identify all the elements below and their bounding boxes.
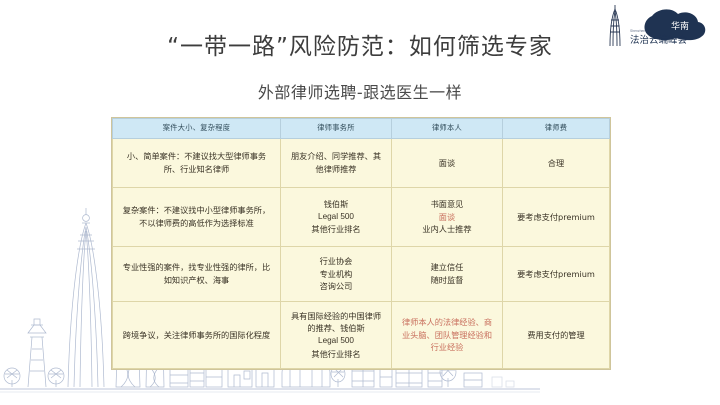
cell-law-firm: 具有国际经验的中国律师的推荐、钱伯斯 Legal 500 其他行业排名 [281,302,392,369]
cell-line: 具有国际经验的中国律师的推荐、钱伯斯 [287,310,385,335]
table-header-row: 案件大小、复杂程度 律师事务所 律师本人 律师费 [113,119,610,139]
cell-case-size: 复杂案件：不建议找中小型律师事务所，不以律师费的高低作为选择标准 [113,188,281,247]
cell-lawyer: 面谈 [392,139,503,188]
cell-lawyer: 建立信任 随时监督 [392,247,503,302]
cell-law-firm: 钱伯斯 Legal 500 其他行业排名 [281,188,392,247]
cell-line: 其他行业排名 [287,223,385,236]
cell-lawyer: 书面意见 面谈 业内人士推荐 [392,188,503,247]
cell-line: 咨询公司 [287,280,385,293]
cell-case-size: 跨境争议，关注律师事务所的国际化程度 [113,302,281,369]
cell-law-firm: 行业协会 专业机构 咨询公司 [281,247,392,302]
cell-line: 业内人士推荐 [398,223,496,236]
cell-line: 书面意见 [398,198,496,211]
cell-line: 其他行业排名 [287,348,385,361]
column-header-lawyer: 律师本人 [392,119,503,139]
column-header-law-firm: 律师事务所 [281,119,392,139]
cell-fee: 要考虑支付premium [503,247,610,302]
column-header-case-size: 案件大小、复杂程度 [113,119,281,139]
cell-fee: 要考虑支付premium [503,188,610,247]
column-header-fee: 律师费 [503,119,610,139]
cell-case-size: 专业性强的案件，找专业性强的律所，比如知识产权、海事 [113,247,281,302]
table-row: 复杂案件：不建议找中小型律师事务所，不以律师费的高低作为选择标准 钱伯斯 Leg… [113,188,610,247]
cell-line: 建立信任 [398,261,496,274]
table-row: 小、简单案件：不建议找大型律师事务所、行业知名律师 朋友介绍、同学推荐、其他律师… [113,139,610,188]
cell-line-highlighted: 面谈 [398,211,496,224]
selection-matrix-table: 案件大小、复杂程度 律师事务所 律师本人 律师费 小、简单案件：不建议找大型律师… [112,118,610,369]
cell-case-size: 小、简单案件：不建议找大型律师事务所、行业知名律师 [113,139,281,188]
cell-line: 行业协会 [287,255,385,268]
page-title: “一带一路”风险防范：如何筛选专家 [0,27,720,61]
cell-fee: 费用支付的管理 [503,302,610,369]
table-row: 跨境争议，关注律师事务所的国际化程度 具有国际经验的中国律师的推荐、钱伯斯 Le… [113,302,610,369]
cell-law-firm: 朋友介绍、同学推荐、其他律师推荐 [281,139,392,188]
page-subtitle: 外部律师选聘-跟选医生一样 [0,79,720,103]
cell-line: 专业机构 [287,268,385,281]
cell-line: 随时监督 [398,274,496,287]
cell-line: Legal 500 [287,211,385,224]
cell-lawyer: 律师本人的法律经验、商业头脑、团队管理经验和行业经验 [392,302,503,369]
cell-line: 钱伯斯 [287,198,385,211]
table-row: 专业性强的案件，找专业性强的律所，比如知识产权、海事 行业协会 专业机构 咨询公… [113,247,610,302]
cell-line: Legal 500 [287,335,385,348]
slide-canvas: 华南 Shenzhen 法治云端峰会 “一带一路”风险防范：如何筛选专家 外部律… [0,0,720,405]
cell-fee: 合理 [503,139,610,188]
